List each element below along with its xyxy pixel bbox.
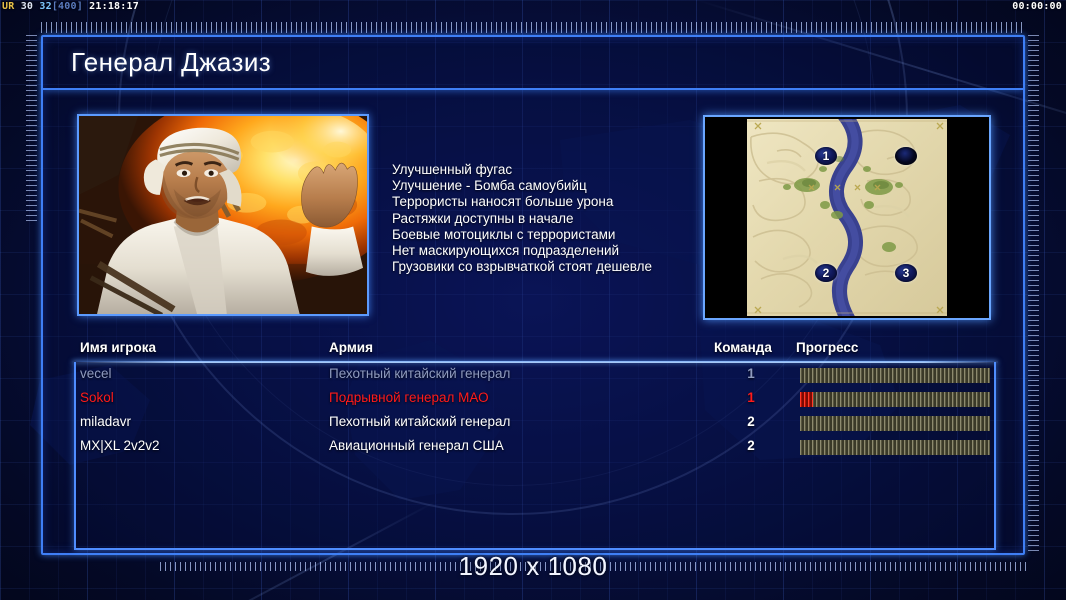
progress-fill xyxy=(800,416,990,431)
match-timer: 00:00:00 xyxy=(1012,1,1062,12)
table-row[interactable]: miladavr Пехотный китайский генерал 2 xyxy=(80,414,990,438)
description-line: Улучшение - Бомба самоубийц xyxy=(392,178,692,194)
ruler-left xyxy=(26,35,37,225)
player-progress-bar xyxy=(800,440,990,455)
column-header-progress: Прогресс xyxy=(796,340,858,355)
player-army: Пехотный китайский генерал xyxy=(329,414,510,429)
player-army: Подрывной генерал МАО xyxy=(329,390,489,405)
minimap-start-position-3[interactable]: 3 xyxy=(895,264,917,282)
ruler-top xyxy=(41,22,1025,33)
minimap-marker-label: 3 xyxy=(903,266,910,280)
player-team: 1 xyxy=(744,366,758,381)
player-team: 2 xyxy=(744,414,758,429)
player-progress-bar xyxy=(800,368,990,383)
hud-token-4: 21:18:17 xyxy=(89,1,139,12)
minimap-start-position-1[interactable]: 1 xyxy=(815,147,837,165)
ruler-right xyxy=(1028,35,1039,555)
general-portrait xyxy=(77,114,369,316)
progress-fill xyxy=(800,392,990,407)
progress-fill xyxy=(800,440,990,455)
player-progress-bar xyxy=(800,416,990,431)
player-name: Sokol xyxy=(80,390,114,405)
player-team: 1 xyxy=(744,390,758,405)
table-row[interactable]: MX|XL 2v2v2 Авиационный генерал США 2 xyxy=(80,438,990,462)
minimap-terrain xyxy=(747,119,947,316)
player-team: 2 xyxy=(744,438,758,453)
player-name: miladavr xyxy=(80,414,131,429)
progress-fill xyxy=(800,368,990,383)
hud-token-0: UR xyxy=(2,1,14,12)
player-progress-bar xyxy=(800,392,990,407)
title-bar: Генерал Джазиз xyxy=(43,37,1023,90)
description-line: Улучшенный фугас xyxy=(392,162,692,178)
description-line: Террористы наносят больше урона xyxy=(392,194,692,210)
resolution-overlay: 1920 x 1080 xyxy=(0,551,1066,582)
description-line: Боевые мотоциклы с террористами xyxy=(392,227,692,243)
minimap-marker-label: 2 xyxy=(823,266,830,280)
page-title: Генерал Джазиз xyxy=(71,47,271,78)
column-header-army: Армия xyxy=(329,340,373,355)
minimap-preview[interactable]: 1 2 3 xyxy=(703,115,991,320)
description-line: Грузовики со взрывчаткой стоят дешевле xyxy=(392,259,692,275)
portrait-artwork xyxy=(79,116,367,315)
minimap-terrain-area: 1 2 3 xyxy=(747,119,947,316)
player-army: Авиационный генерал США xyxy=(329,438,504,453)
player-name: vecel xyxy=(80,366,112,381)
game-lobby-screen: UR 30 32[400] 21:18:17 00:00:00 Генерал … xyxy=(0,0,1066,600)
column-header-name: Имя игрока xyxy=(80,340,156,355)
debug-hud-text: UR 30 32[400] 21:18:17 xyxy=(2,1,139,12)
description-line: Растяжки доступны в начале xyxy=(392,211,692,227)
hud-token-2: 32 xyxy=(39,1,51,12)
player-name: MX|XL 2v2v2 xyxy=(80,438,160,453)
table-row[interactable]: Sokol Подрывной генерал МАО 1 xyxy=(80,390,990,414)
hud-token-3: [400] xyxy=(52,1,83,12)
general-description: Улучшенный фугас Улучшение - Бомба самоу… xyxy=(392,162,692,275)
progress-fill-highlight xyxy=(800,392,813,407)
hud-token-1: 30 xyxy=(21,1,33,12)
minimap-start-position-2[interactable]: 2 xyxy=(815,264,837,282)
minimap-start-position-empty[interactable] xyxy=(895,147,917,165)
table-row[interactable]: vecel Пехотный китайский генерал 1 xyxy=(80,366,990,390)
minimap-marker-label: 1 xyxy=(823,149,830,163)
description-line: Нет маскирующихся подразделений xyxy=(392,243,692,259)
column-header-team: Команда xyxy=(714,340,772,355)
player-table-header: Имя игрока Армия Команда Прогресс xyxy=(80,340,990,360)
player-army: Пехотный китайский генерал xyxy=(329,366,510,381)
